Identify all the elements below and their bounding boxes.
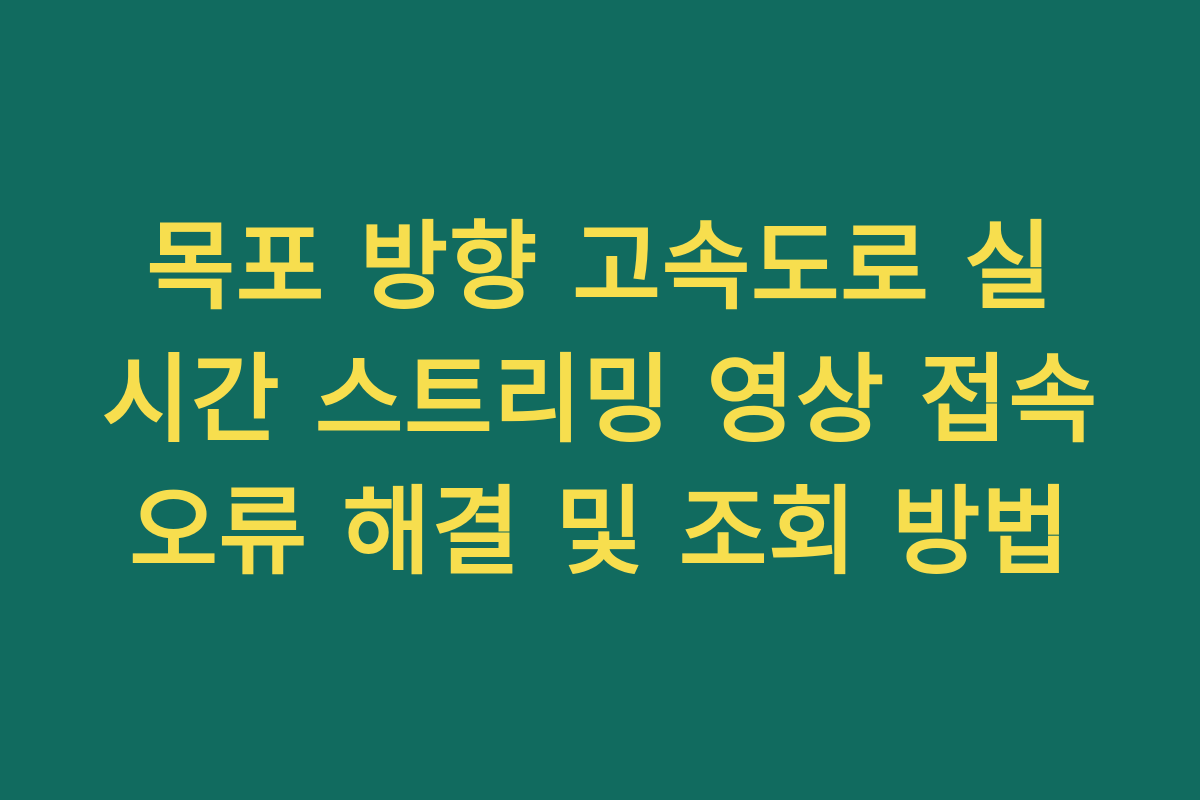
text-card: 목포 방향 고속도로 실 시간 스트리밍 영상 접속 오류 해결 및 조회 방법 bbox=[0, 0, 1200, 800]
headline-line-2: 시간 스트리밍 영상 접속 bbox=[100, 334, 1100, 466]
headline-line-3: 오류 해결 및 조회 방법 bbox=[100, 466, 1100, 598]
headline-line-1: 목포 방향 고속도로 실 bbox=[100, 201, 1100, 333]
page-title: 목포 방향 고속도로 실 시간 스트리밍 영상 접속 오류 해결 및 조회 방법 bbox=[100, 201, 1100, 598]
